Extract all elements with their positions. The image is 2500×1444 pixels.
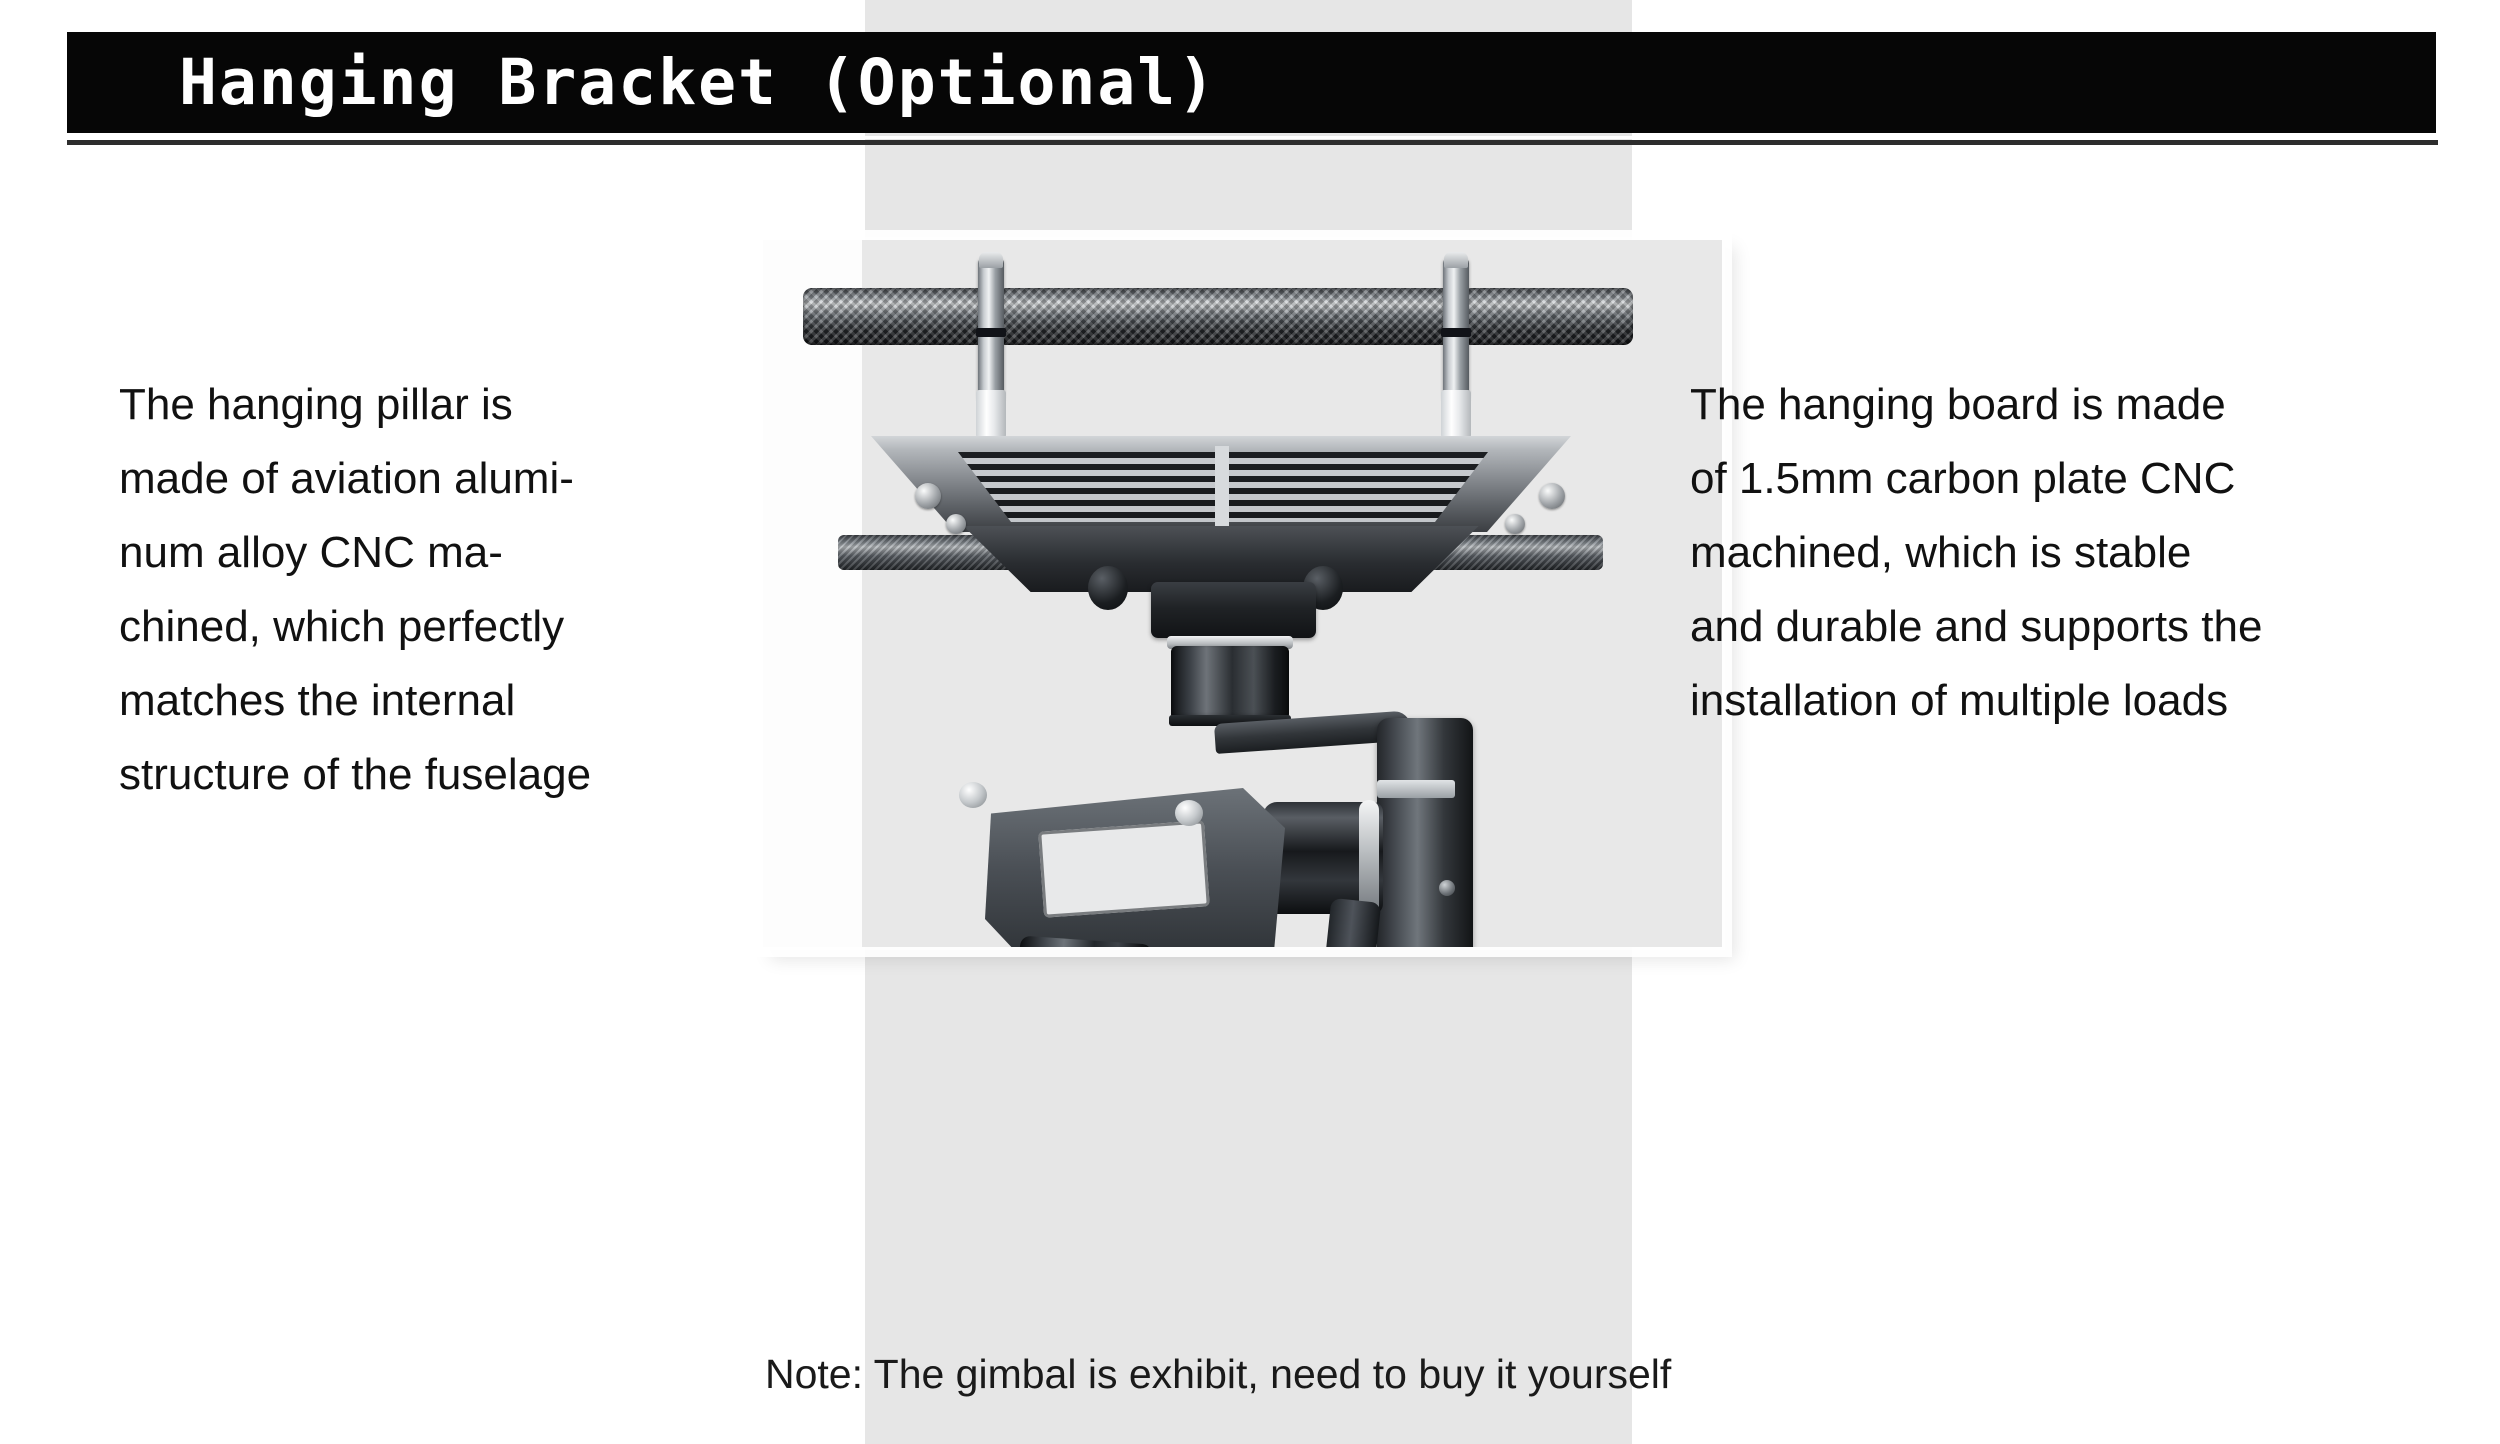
hanging-board-bolt <box>915 483 941 509</box>
hanging-pillar-cap-left <box>979 252 1003 268</box>
gimbal-roll-arm-notch <box>1377 780 1455 798</box>
pillar-foot-right <box>1441 390 1471 438</box>
hanging-board-bolt <box>1539 483 1565 509</box>
pillar-clamp-band-right <box>1441 328 1471 337</box>
gimbal-arm-screw <box>1439 880 1455 896</box>
camera-cage-pin-left <box>959 782 987 808</box>
gimbal-roll-arm-vertical <box>1377 718 1473 947</box>
photo-background-left <box>763 240 862 947</box>
anti-vibration-damper-left <box>1088 566 1128 610</box>
gimbal-camera-cage <box>985 788 1285 947</box>
product-photo-inner <box>763 240 1722 947</box>
product-photo <box>760 237 1725 950</box>
hanging-board-bolt <box>946 514 966 534</box>
page-title: Hanging Bracket (Optional) <box>179 51 1217 114</box>
gimbal-roll-motor-ring <box>1359 800 1379 916</box>
right-description-text: The hanging board is made of 1.5mm carbo… <box>1690 368 2450 738</box>
footer-note: Note: The gimbal is exhibit, need to buy… <box>765 1352 1671 1397</box>
hanging-pillar-cap-right <box>1444 252 1468 268</box>
hanging-board-center-gap <box>1215 446 1229 528</box>
gimbal-mount-block <box>1151 582 1316 638</box>
pillar-clamp-band-left <box>976 328 1006 337</box>
page-title-banner: Hanging Bracket (Optional) <box>67 32 2436 133</box>
gimbal-yaw-motor <box>1171 646 1289 720</box>
slide-page: Hanging Bracket (Optional) The hanging p… <box>0 0 2500 1444</box>
title-underline <box>67 140 2438 145</box>
left-description-text: The hanging pillar is made of aviation a… <box>119 368 739 812</box>
camera-cage-window <box>1038 820 1210 917</box>
pillar-foot-left <box>976 390 1006 438</box>
hanging-board-bolt <box>1505 514 1525 534</box>
carbon-fiber-boom-tube <box>803 288 1633 345</box>
title-underline-highlight <box>67 136 2438 139</box>
camera-cage-pin-right <box>1175 800 1203 826</box>
